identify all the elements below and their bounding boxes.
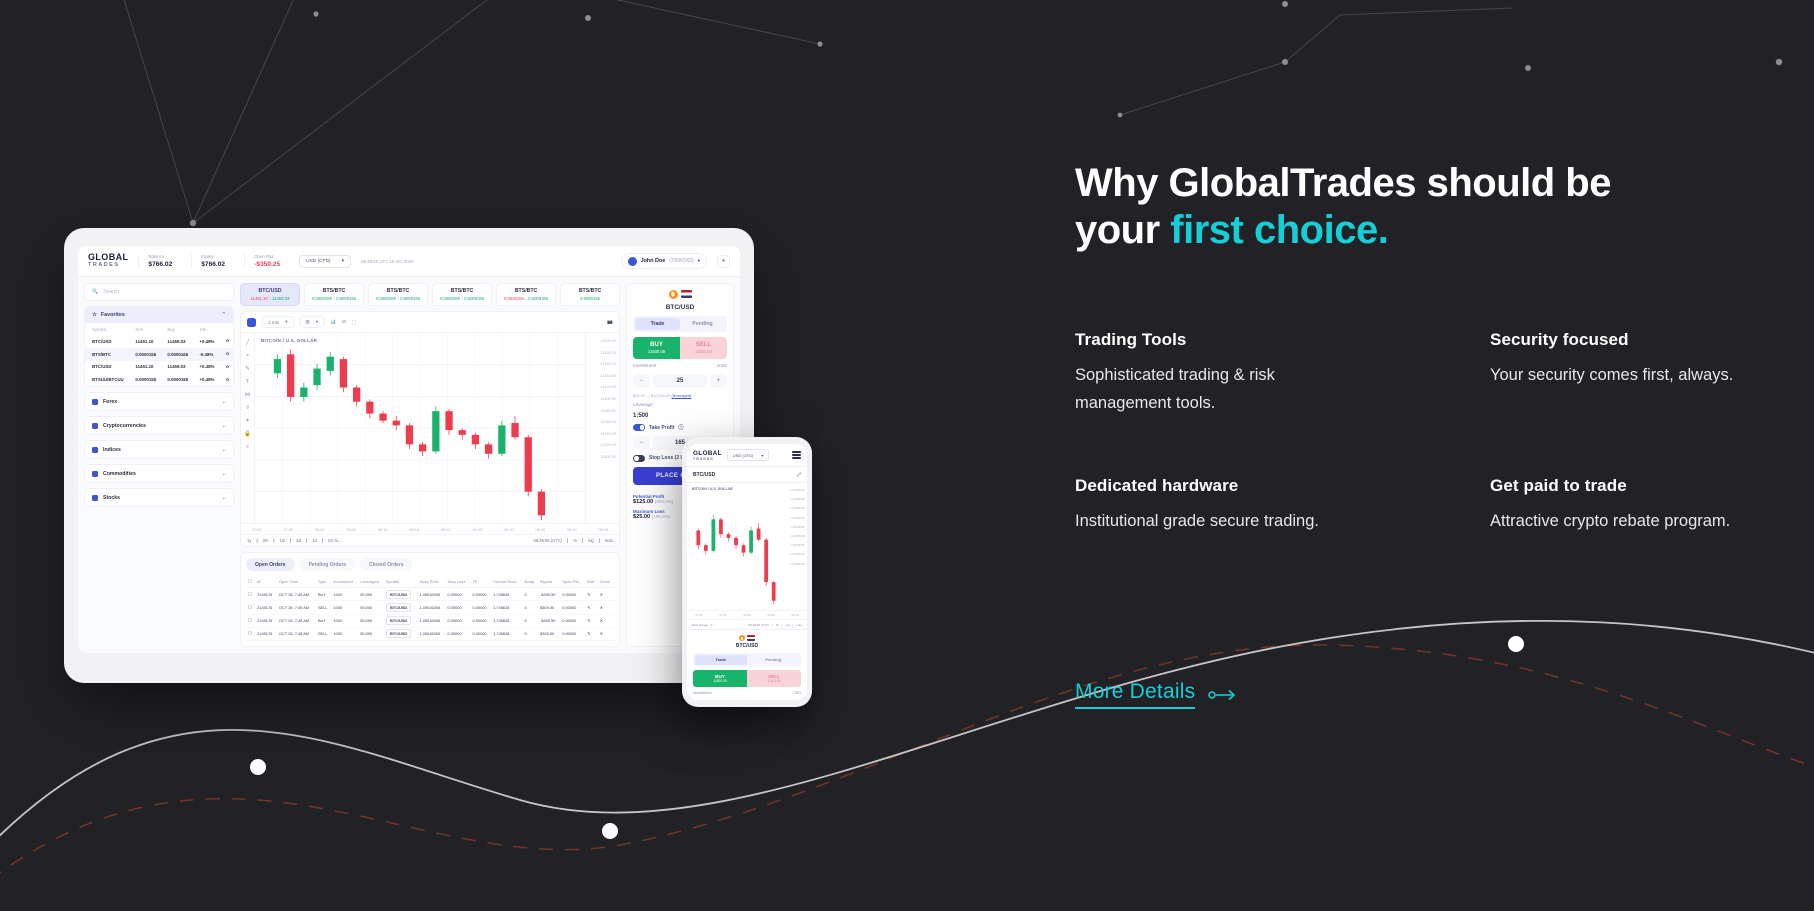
- chart-grid: [255, 333, 585, 523]
- sidebar-item-forex[interactable]: Forex ⌄: [84, 392, 234, 411]
- phone-price-tick: 1.00008365: [790, 488, 805, 492]
- pair-buy: 11459.03: [272, 296, 289, 301]
- phone-currency-value: USD (CFD): [733, 453, 753, 458]
- row-change: +0.48%: [192, 373, 218, 386]
- potential-profit-amount: $125.00: [633, 499, 653, 505]
- row-edit[interactable]: ✎: [585, 627, 598, 640]
- phone-log-toggle[interactable]: log: [785, 623, 789, 627]
- pair-symbol: BTC/USD: [248, 288, 292, 294]
- tab-pending-orders[interactable]: Pending Orders: [300, 558, 356, 571]
- take-profit-toggle[interactable]: [633, 424, 645, 431]
- phone-investment-label: Investment: [693, 691, 712, 695]
- favorites-label: Favorites: [101, 312, 125, 318]
- row-stop-loss: 0.00000: [446, 627, 471, 640]
- time-tick: 08:05: [346, 527, 356, 532]
- kpi-open-pnl: Open P&L -$359.25: [244, 254, 289, 268]
- sidebar-item-stocks[interactable]: Stocks ⌄: [84, 488, 234, 507]
- phone-logo-line1: GLOBAL: [693, 450, 722, 457]
- pair-sell: 11451.10: [251, 296, 268, 301]
- investment-decrement[interactable]: −: [633, 374, 650, 388]
- time-tick: 07:55: [283, 527, 293, 532]
- row-select[interactable]: [246, 601, 255, 614]
- magnet-icon[interactable]: ✦: [245, 418, 250, 424]
- sidebar-item-label: Stocks: [103, 495, 120, 501]
- row-payout: -$309.50: [538, 614, 560, 627]
- phone-date-range-label[interactable]: Date Range: [692, 623, 708, 627]
- tf-percent-toggle[interactable]: %: [573, 538, 577, 543]
- row-current-price: 1.745635: [491, 627, 522, 640]
- phone-price-tick: 1.00008365: [790, 516, 805, 520]
- row-change: +0.48%: [192, 335, 218, 348]
- feature-security-focused: Security focused Your security comes fir…: [1490, 330, 1775, 418]
- col-open-price[interactable]: Open Price: [417, 576, 445, 588]
- chart-clock: 08:49:55 (UTC): [533, 538, 562, 543]
- price-tick: 11320.00: [600, 443, 616, 447]
- table-row[interactable]: 2145176OCT 26, 7:45 AMSELL100050,000BTC/…: [246, 601, 614, 614]
- star-icon: ☆: [92, 312, 97, 318]
- measure-icon[interactable]: ⇳: [245, 405, 250, 411]
- sidebar-item-commodities[interactable]: Commodities ⌄: [84, 464, 234, 483]
- investment-range: $25.00 — $12,500.00: [633, 393, 670, 398]
- row-payout: $309.50: [538, 601, 560, 614]
- row-symbol: BTC/USD: [384, 614, 418, 627]
- commodities-icon: [92, 471, 98, 477]
- row-edit[interactable]: ✎: [585, 614, 598, 627]
- chevron-down-icon: ▾: [711, 623, 713, 627]
- row-open-price: 1.00016265: [417, 614, 445, 627]
- row-sell: 0.0000155: [128, 348, 160, 361]
- kpi-open-pnl-value: -$359.25: [254, 261, 280, 268]
- row-payout: -$309.50: [538, 588, 560, 601]
- phone-mockup: GLOBAL TRADES USD (CFD) ▾ BTC/USD ⤢ BITC…: [682, 437, 812, 707]
- lock-icon[interactable]: 🔒: [244, 431, 251, 437]
- phone-pair-symbol: BTC/USD: [693, 472, 715, 478]
- kpi-equity: Equity $766.02: [191, 254, 234, 268]
- phone-tab-pending[interactable]: Pending: [747, 655, 800, 665]
- headline-line2-accent: first choice.: [1170, 208, 1388, 252]
- forex-icon: [92, 399, 98, 405]
- phone-price-tick: 1.00008365: [790, 525, 805, 529]
- phone-auto-toggle[interactable]: auto: [796, 623, 802, 627]
- kpi-balance-value: $766.02: [148, 261, 172, 268]
- col-sell: Sell: [128, 323, 160, 335]
- row-buy: 11459.03: [160, 335, 192, 348]
- col-current-price[interactable]: Current Price: [491, 576, 522, 588]
- row-change: +0.48%: [192, 361, 218, 374]
- row-buy: 0.0000165: [160, 348, 192, 361]
- pair-buy: 0.0000165: [528, 296, 548, 301]
- row-leveraged: 50,000: [358, 601, 384, 614]
- price-tick: 11420.00: [600, 385, 616, 389]
- text-icon[interactable]: T: [246, 379, 249, 385]
- phone-percent-toggle[interactable]: %: [776, 623, 779, 627]
- chevron-down-icon: ▾: [761, 453, 763, 458]
- row-id: 2145176: [255, 588, 277, 601]
- pair-sell: 0.0000155: [312, 296, 332, 301]
- stocks-icon: [92, 495, 98, 501]
- take-profit-decrement[interactable]: −: [633, 436, 650, 450]
- tab-pending[interactable]: Pending: [680, 318, 725, 330]
- currency-select-value: USD (CFD): [306, 259, 331, 264]
- candle-series: [274, 350, 545, 520]
- col-leveraged[interactable]: Leveraged: [358, 576, 384, 588]
- investment-increment[interactable]: +: [710, 374, 727, 388]
- row-type: SELL: [316, 601, 331, 614]
- row-open-price: 1.00016265: [417, 627, 445, 640]
- potential-profit-percent: (500.0%): [655, 499, 674, 504]
- phone-sell-price: 11501.53: [747, 679, 801, 683]
- table-row[interactable]: 2145176OCT 26, 7:45 AMSELL100050,000BTC/…: [246, 627, 614, 640]
- price-tick: 11460.00: [600, 362, 616, 366]
- star-icon[interactable]: ☆: [218, 335, 233, 348]
- chart-main: ╱ ≈ ✎ T ⋈ ⇳ ✦ 🔒 ⌕ BITCOI: [241, 333, 619, 523]
- price-tick: 11400.00: [600, 397, 616, 401]
- row-close[interactable]: ✕: [598, 614, 614, 627]
- take-profit-toggle-row[interactable]: Take Profit ⓘ: [633, 424, 727, 431]
- sidebar-item-indices[interactable]: Indices ⌄: [84, 440, 234, 459]
- favorites-panel: ☆ Favorites ⌃ Symbol Sell Buy 24h: [84, 306, 234, 387]
- pair-tab-5[interactable]: BTS/BTC 0.0000155: [560, 283, 620, 306]
- row-tp: 0.00000: [471, 627, 492, 640]
- col-select[interactable]: [246, 576, 255, 588]
- row-stop-loss: 0.00000: [446, 588, 471, 601]
- stop-loss-toggle[interactable]: [633, 455, 645, 462]
- row-type: BUY: [316, 614, 331, 627]
- fullscreen-icon[interactable]: ⛶: [352, 320, 355, 325]
- phone-price-tick: 1.00008365: [790, 562, 805, 566]
- kpi-balance: Balance $766.02: [138, 254, 181, 268]
- pair-tab-4[interactable]: BTS/BTC 0.0000155 ↓ 0.0000165: [496, 283, 556, 306]
- info-icon[interactable]: ⓘ: [678, 424, 683, 431]
- feature-body: Your security comes first, always.: [1490, 361, 1750, 389]
- sidebar: 🔍 Search ☆ Favorites ⌃ Symbol Sell: [84, 283, 234, 647]
- hamburger-menu-icon[interactable]: [792, 451, 801, 458]
- orders-body: 2145176OCT 26, 7:45 AMBUY100050,000BTC/U…: [246, 588, 614, 641]
- kpi-open-pnl-label: Open P&L: [254, 254, 280, 259]
- phone-price-axis: 1.00008365 1.00008365 1.00008365 1.00008…: [785, 483, 807, 610]
- leverage-labels: Leverage: [633, 403, 727, 408]
- table-row[interactable]: BTC/USD 11451.10 11459.03 +0.48% ☆: [85, 335, 233, 348]
- search-placeholder: Search: [103, 289, 119, 295]
- circle-arrow-right-icon: [1208, 688, 1238, 702]
- page-root: GLOBAL TRADES Balance $766.02 Equity $76…: [0, 0, 1814, 911]
- favorites-header[interactable]: ☆ Favorites ⌃: [85, 307, 233, 323]
- logo-line2: TRADES: [88, 263, 128, 269]
- headline-line1: Why GlobalTrades should be: [1075, 161, 1611, 205]
- table-row[interactable]: BTSUU/BTCUU 0.0000155 0.0000165 +0.48% ☆: [85, 373, 233, 386]
- maximum-loss-percent: (100.0%): [652, 514, 671, 519]
- kpi-balance-label: Balance: [148, 254, 172, 259]
- table-row[interactable]: 2145176OCT 26, 7:45 AMBUY100050,000BTC/U…: [246, 614, 614, 627]
- tf-log-toggle[interactable]: log: [588, 538, 594, 543]
- feature-get-paid-to-trade: Get paid to trade Attractive crypto reba…: [1490, 476, 1775, 535]
- pair-prices: 0.0000155 ↓ 0.0000165: [504, 296, 548, 301]
- tf-button-1m[interactable]: 1m: [279, 538, 285, 543]
- phone-investment-row: Investment USD: [693, 691, 801, 695]
- settings-gear-icon[interactable]: ✳: [717, 255, 730, 268]
- timeframe-select[interactable]: 1 min ▾: [262, 316, 294, 328]
- fib-icon[interactable]: ≈: [246, 353, 249, 359]
- phone-price-tick: 1.00008365: [790, 552, 805, 556]
- pair-symbol: BTS/BTC: [504, 288, 548, 294]
- time-tick: 08:35: [535, 527, 545, 532]
- sidebar-item-label: Indices: [103, 447, 121, 453]
- chevron-down-icon: ▾: [342, 259, 344, 264]
- favorites-table: Symbol Sell Buy 24h BTC/USD 11451.10: [85, 323, 233, 386]
- laptop-mockup: GLOBAL TRADES Balance $766.02 Equity $76…: [64, 228, 754, 683]
- bitcoin-icon: ฿: [739, 635, 745, 641]
- phone-order-panel: ฿ BTC/USD Trade Pending BUY 11500.05 SEL…: [687, 629, 807, 700]
- phone-sell-button[interactable]: SELL 11501.53: [747, 670, 801, 687]
- row-symbol: BTC/USD: [384, 627, 418, 640]
- phone-buy-button[interactable]: BUY 11500.05: [693, 670, 747, 687]
- investment-hint: $25.00 — $12,500.00 (leveraged): [633, 393, 727, 398]
- row-open-pnl: 0.00000: [560, 588, 585, 601]
- star-icon[interactable]: ☆: [218, 361, 233, 374]
- leveraged-link[interactable]: (leveraged): [672, 393, 692, 398]
- trading-dashboard: GLOBAL TRADES Balance $766.02 Equity $76…: [78, 246, 740, 653]
- zoom-icon[interactable]: ⌕: [246, 444, 249, 451]
- brush-icon[interactable]: ✎: [245, 366, 250, 372]
- row-sell: 0.0000155: [128, 373, 160, 386]
- col-tp[interactable]: TP: [471, 576, 492, 588]
- row-stop-loss: 0.00000: [446, 614, 471, 627]
- more-details-link[interactable]: More Details: [1075, 680, 1238, 709]
- col-type[interactable]: Type: [316, 576, 331, 588]
- time-tick: 08:00: [315, 527, 325, 532]
- pair-prices: 0.0000155: [568, 296, 612, 301]
- time-tick: 07:50: [252, 527, 262, 532]
- chevron-down-icon: ⌄: [222, 495, 226, 501]
- phone-tab-trade[interactable]: Trade: [695, 655, 748, 665]
- chart-title: BITCOIN / U.S. DOLLAR: [261, 338, 317, 343]
- feature-body: Institutional grade secure trading.: [1075, 507, 1335, 535]
- tab-open-orders[interactable]: Open Orders: [246, 558, 295, 571]
- tab-closed-orders[interactable]: Closed Orders: [360, 558, 412, 571]
- trendline-icon[interactable]: ╱: [246, 340, 249, 346]
- row-payout: $309.50: [538, 627, 560, 640]
- row-stop-loss: 0.00000: [446, 601, 471, 614]
- phone-price-tick: 1.00008365: [790, 497, 805, 501]
- camera-icon[interactable]: 📷: [607, 319, 613, 325]
- compare-icon[interactable]: ⚖: [342, 319, 346, 325]
- row-edit[interactable]: ✎: [585, 588, 598, 601]
- row-type: SELL: [316, 627, 331, 640]
- price-tick: 11440.00: [600, 374, 616, 378]
- phone-currency-select[interactable]: USD (CFD) ▾: [727, 449, 769, 461]
- row-tp: 0.00000: [471, 614, 492, 627]
- investment-label: Investment: [633, 364, 656, 369]
- row-leveraged: 50,000: [358, 614, 384, 627]
- phone-time-tick: 08:00: [743, 613, 751, 617]
- user-menu[interactable]: John Doe (7896543) ▾: [621, 253, 707, 269]
- pair-tab-2[interactable]: BTS/BTC 0.0000155 ↑ 0.0000165: [368, 283, 428, 306]
- us-flag-icon: [747, 635, 755, 641]
- chevron-down-icon: ▾: [285, 319, 287, 325]
- col-stop-loss[interactable]: Stop Loss: [446, 576, 471, 588]
- time-tick: 08:30: [504, 527, 514, 532]
- feature-title: Dedicated hardware: [1075, 476, 1490, 496]
- row-close[interactable]: ✕: [598, 601, 614, 614]
- pair-buy: 0.0000165: [336, 296, 356, 301]
- time-axis: 07:50 07:55 08:00 08:05 08:10 08:15 08:2…: [241, 523, 619, 534]
- app-header: GLOBAL TRADES Balance $766.02 Equity $76…: [78, 246, 740, 277]
- take-profit-label: Take Profit: [649, 425, 674, 431]
- buy-button[interactable]: BUY 11500.05: [633, 337, 680, 359]
- row-sell: 11451.10: [128, 335, 160, 348]
- currency-select[interactable]: USD (CFD) ▾: [299, 255, 351, 268]
- sidebar-item-label: Cryptocurrencies: [103, 423, 146, 429]
- sell-price: 11501.53: [680, 349, 727, 354]
- page-title: Why GlobalTrades should be your first ch…: [1075, 160, 1775, 254]
- time-tick: 08:15: [409, 527, 419, 532]
- feature-title: Get paid to trade: [1490, 476, 1775, 496]
- table-row[interactable]: BTS/BTC 0.0000155 0.0000165 -0.48% ☆: [85, 348, 233, 361]
- pair-buy: 0.0000165: [400, 296, 420, 301]
- sidebar-item-label: Forex: [103, 399, 117, 405]
- row-open-price: 1.00016265: [417, 588, 445, 601]
- row-select[interactable]: [246, 614, 255, 627]
- sidebar-item-cryptocurrencies[interactable]: Cryptocurrencies ⌄: [84, 416, 234, 435]
- phone-logo-line2: TRADES: [693, 457, 722, 461]
- favorites-header-row: Symbol Sell Buy 24h: [85, 323, 233, 335]
- row-close[interactable]: ✕: [598, 588, 614, 601]
- col-open-time[interactable]: Open Time: [277, 576, 316, 588]
- phone-time-tick: 07:50: [695, 613, 703, 617]
- row-open-time: OCT 26, 7:45 AM: [277, 627, 316, 640]
- phone-buy-sell: BUY 11500.05 SELL 11501.53: [693, 670, 801, 687]
- user-id: (7896543): [669, 258, 694, 264]
- pair-tab-0[interactable]: BTC/USD 11451.10 ↓ 11459.03: [240, 283, 300, 306]
- tf-button-1d[interactable]: 1d: [312, 538, 317, 543]
- row-type: BUY: [316, 588, 331, 601]
- investment-stepper: − 25 +: [633, 374, 727, 388]
- investment-labels: Investment USD: [633, 364, 727, 369]
- col-symbol[interactable]: Symbol: [384, 576, 418, 588]
- phone-order-tabs: Trade Pending: [693, 653, 801, 666]
- table-row[interactable]: 2145176OCT 26, 7:45 AMBUY100050,000BTC/U…: [246, 588, 614, 601]
- col-id[interactable]: ID: [255, 576, 277, 588]
- phone-pair-row[interactable]: BTC/USD ⤢: [687, 467, 807, 483]
- headline-line2-plain: your: [1075, 208, 1170, 252]
- row-id: 2145176: [255, 614, 277, 627]
- price-tick: 11360.00: [600, 420, 616, 424]
- buy-sell-buttons: BUY 11500.05 SELL 11501.53: [633, 337, 727, 359]
- sell-label: SELL: [680, 342, 727, 348]
- phone-time-tick: 07:55: [719, 613, 727, 617]
- phone-app: GLOBAL TRADES USD (CFD) ▾ BTC/USD ⤢ BITC…: [687, 444, 807, 700]
- col-payout[interactable]: Payout: [538, 576, 560, 588]
- tf-button-1y[interactable]: 1y: [247, 538, 251, 543]
- main-content: BTC/USD 11451.10 ↓ 11459.03 BTS/BTC 0.00…: [240, 283, 620, 647]
- pattern-icon[interactable]: ⋈: [245, 392, 250, 398]
- phone-time-tick: 08:05: [767, 613, 775, 617]
- row-change: -0.48%: [192, 348, 218, 361]
- feature-body: Sophisticated trading & risk management …: [1075, 361, 1335, 418]
- col-open-pnl[interactable]: Open P&L: [560, 576, 585, 588]
- app-body: 🔍 Search ☆ Favorites ⌃ Symbol Sell: [78, 277, 740, 653]
- row-investment: 1000: [331, 601, 358, 614]
- col-investment[interactable]: Investment: [331, 576, 358, 588]
- row-symbol: BTC/USD: [85, 361, 128, 374]
- pair-tab-1[interactable]: BTS/BTC 0.0000155 ↑ 0.0000165: [304, 283, 364, 306]
- chart-svg: [255, 333, 585, 523]
- feature-trading-tools: Trading Tools Sophisticated trading & ri…: [1075, 330, 1490, 418]
- col-swap[interactable]: Swap: [523, 576, 539, 588]
- table-row[interactable]: BTC/USD 11451.10 11459.03 +0.48% ☆: [85, 361, 233, 374]
- chart-type-select[interactable]: ▥ ▾: [300, 316, 325, 328]
- feature-title: Security focused: [1490, 330, 1775, 350]
- time-tick: 08:45: [598, 527, 608, 532]
- row-close[interactable]: ✕: [598, 627, 614, 640]
- row-swap: 0: [523, 627, 539, 640]
- phone-clock: 08:49:55 (UTC): [748, 623, 769, 627]
- chevron-down-icon: ⌄: [222, 471, 226, 477]
- row-current-price: 1.745635: [491, 614, 522, 627]
- col-edit: Edit: [585, 576, 598, 588]
- row-current-price: 1.745635: [491, 601, 522, 614]
- orders-table: ID Open Time Type Investment Leveraged S…: [246, 576, 614, 641]
- price-tick: 11340.00: [600, 432, 616, 436]
- kpi-equity-label: Equity: [201, 254, 225, 259]
- tf-button-goto[interactable]: Go to...: [328, 538, 342, 543]
- row-edit[interactable]: ✎: [585, 601, 598, 614]
- tab-trade[interactable]: Trade: [635, 318, 680, 330]
- chevron-down-icon: ▾: [316, 319, 318, 325]
- col-symbol: Symbol: [85, 323, 128, 335]
- search-input[interactable]: 🔍 Search: [84, 283, 234, 301]
- row-select[interactable]: [246, 627, 255, 640]
- expand-icon[interactable]: ⤢: [797, 472, 801, 478]
- col-24h: 24h: [192, 323, 218, 335]
- pair-tab-3[interactable]: BTS/BTC 0.0000155 ↑ 0.0000165: [432, 283, 492, 306]
- sidebar-item-label: Commodities: [103, 471, 136, 477]
- tf-button-5d[interactable]: 5d: [296, 538, 301, 543]
- chevron-down-icon: ▾: [698, 258, 700, 264]
- phone-instrument-icons: ฿: [693, 635, 801, 641]
- phone-time-tick: 08:10: [791, 613, 799, 617]
- crypto-icon: [92, 423, 98, 429]
- row-open-time: OCT 26, 7:45 AM: [277, 614, 316, 627]
- row-symbol: BTS/BTC: [85, 348, 128, 361]
- crosshair-icon[interactable]: [247, 318, 256, 327]
- row-tp: 0.00000: [471, 601, 492, 614]
- star-icon[interactable]: ☆: [218, 348, 233, 361]
- leverage-value: 1:500: [633, 413, 727, 419]
- tf-button-3m[interactable]: 3m: [263, 538, 269, 543]
- star-icon[interactable]: ☆: [218, 373, 233, 386]
- row-investment: 1000: [331, 627, 358, 640]
- instrument-icons: ฿: [633, 290, 727, 299]
- order-mode-tabs: Trade Pending: [633, 316, 727, 332]
- pair-prices: 0.0000155 ↑ 0.0000165: [376, 296, 420, 301]
- phone-order-symbol: BTC/USD: [693, 643, 801, 649]
- feature-dedicated-hardware: Dedicated hardware Institutional grade s…: [1075, 476, 1490, 535]
- row-swap: 0: [523, 601, 539, 614]
- sell-button[interactable]: SELL 11501.53: [680, 337, 727, 359]
- indicators-icon[interactable]: 📊: [330, 319, 336, 325]
- phone-logo: GLOBAL TRADES: [693, 450, 722, 461]
- phone-price-tick: 1.00008365: [790, 543, 805, 547]
- phone-chart: BITCOIN / U.S. DOLLAR 1.00008365 1.00008…: [687, 483, 807, 610]
- row-open-time: OCT 26, 7:45 AM: [277, 601, 316, 614]
- investment-value[interactable]: 25: [653, 374, 707, 388]
- tf-auto-toggle[interactable]: auto: [605, 538, 613, 543]
- chevron-down-icon: ⌄: [222, 447, 226, 453]
- pair-sell: 0.0000155: [580, 296, 600, 301]
- pair-buy: 0.0000165: [464, 296, 484, 301]
- row-select[interactable]: [246, 588, 255, 601]
